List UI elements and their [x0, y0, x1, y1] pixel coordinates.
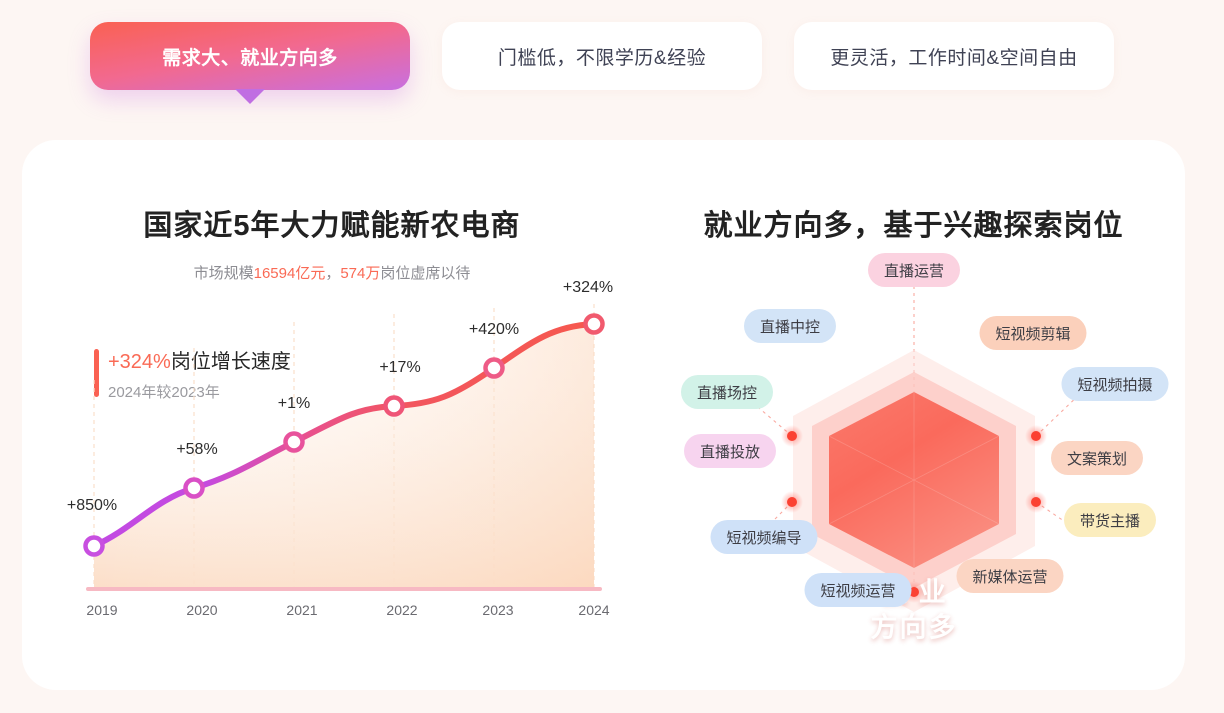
chart-svg — [22, 300, 642, 630]
tag-label: 带货主播 — [1080, 510, 1140, 531]
x-label-2023: 2023 — [482, 602, 513, 618]
tag-label: 短视频运营 — [820, 580, 895, 601]
tab-pointer-triangle — [235, 89, 265, 104]
left-panel-subtitle: 市场规模16594亿元，574万岗位虚席以待 — [22, 262, 642, 283]
chart-x-axis-labels: 2019 2020 2021 2022 2023 2024 — [22, 602, 642, 624]
tag-label: 直播中控 — [760, 316, 820, 337]
left-chart-panel: 国家近5年大力赋能新农电商 市场规模16594亿元，574万岗位虚席以待 +32… — [22, 140, 642, 690]
point-label-2024: +324% — [563, 279, 613, 297]
tag-new-media-operations[interactable]: 新媒体运营 — [956, 559, 1063, 593]
tab-flexible[interactable]: 更灵活，工作时间&空间自由 — [794, 22, 1114, 90]
main-content-card: 国家近5年大力赋能新农电商 市场规模16594亿元，574万岗位虚席以待 +32… — [22, 140, 1185, 690]
point-label-2021: +1% — [278, 395, 310, 413]
subtitle-job-count: 574万 — [340, 265, 380, 282]
chart-area-fill-horizontal — [94, 324, 594, 588]
point-label-2020: +58% — [176, 441, 217, 459]
tag-live-commerce-host[interactable]: 带货主播 — [1064, 503, 1156, 537]
tag-copywriting[interactable]: 文案策划 — [1051, 441, 1143, 475]
tag-live-control[interactable]: 直播中控 — [744, 309, 836, 343]
tag-live-operations[interactable]: 直播运营 — [868, 253, 960, 287]
x-label-2022: 2022 — [386, 602, 417, 618]
x-label-2020: 2020 — [186, 602, 217, 618]
tab-low-barrier[interactable]: 门槛低，不限学历&经验 — [442, 22, 762, 90]
left-panel-title: 国家近5年大力赋能新农电商 — [22, 202, 642, 244]
tag-live-advertising[interactable]: 直播投放 — [684, 434, 776, 468]
point-label-2019: +850% — [67, 497, 117, 515]
tag-short-video-operations[interactable]: 短视频运营 — [804, 573, 911, 607]
tag-label: 短视频剪辑 — [995, 323, 1070, 344]
point-label-2022: +17% — [379, 359, 420, 377]
point-label-2023: +420% — [469, 321, 519, 339]
right-panel-title: 就业方向多，基于兴趣探索岗位 — [642, 202, 1185, 244]
x-label-2021: 2021 — [286, 602, 317, 618]
tag-short-video-shooting[interactable]: 短视频拍摄 — [1061, 367, 1168, 401]
x-label-2024: 2024 — [578, 602, 609, 618]
tag-short-video-editing[interactable]: 短视频剪辑 — [979, 316, 1086, 350]
tag-label: 直播运营 — [884, 260, 944, 281]
tab-demand-high[interactable]: 需求大、就业方向多 — [90, 22, 410, 90]
tag-live-floor-control[interactable]: 直播场控 — [681, 375, 773, 409]
tag-label: 直播场控 — [697, 382, 757, 403]
tag-label: 文案策划 — [1067, 448, 1127, 469]
x-label-2019: 2019 — [86, 602, 117, 618]
tag-label: 新媒体运营 — [972, 566, 1047, 587]
subtitle-suffix: 岗位虚席以待 — [380, 265, 470, 282]
tag-label: 直播投放 — [700, 441, 760, 462]
subtitle-market-size: 16594亿元 — [254, 265, 326, 282]
right-hexagon-panel: 就业方向多，基于兴趣探索岗位 — [642, 140, 1185, 690]
tag-label: 短视频编导 — [726, 527, 801, 548]
hexagon-diagram: 就 业 方向多 直播运营 直播中控 直播场控 直播投放 短视频编导 短视频运营 … — [642, 240, 1185, 670]
tabs-row: 需求大、就业方向多 门槛低，不限学历&经验 更灵活，工作时间&空间自由 — [90, 22, 1114, 90]
tag-label: 短视频拍摄 — [1077, 374, 1152, 395]
tag-short-video-director[interactable]: 短视频编导 — [710, 520, 817, 554]
tab-label: 门槛低，不限学历&经验 — [498, 43, 706, 70]
growth-line-chart: +850% +58% +1% +17% +420% +324% — [22, 300, 642, 630]
subtitle-separator: ， — [325, 265, 340, 282]
subtitle-prefix: 市场规模 — [194, 265, 254, 282]
tab-label: 需求大、就业方向多 — [162, 43, 338, 70]
tab-label: 更灵活，工作时间&空间自由 — [830, 43, 1077, 70]
